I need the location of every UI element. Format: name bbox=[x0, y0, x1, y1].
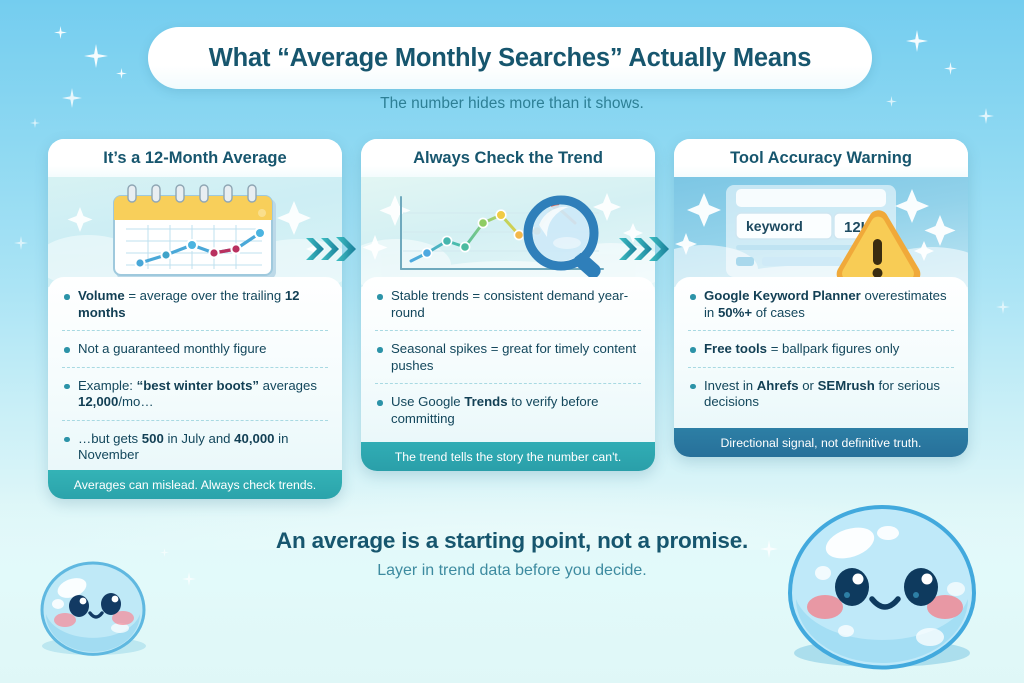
page-subtitle: The number hides more than it shows. bbox=[0, 95, 1024, 113]
card-title: Always Check the Trend bbox=[413, 149, 603, 168]
bullet-item: Stable trends = consistent demand year-r… bbox=[375, 288, 641, 321]
triple-chevron-right-icon bbox=[619, 237, 669, 261]
blob-mascot-small bbox=[28, 548, 158, 658]
sparkle-icon bbox=[30, 118, 40, 128]
card-body: Volume = average over the trailing 12 mo… bbox=[48, 277, 342, 470]
sparkle-icon bbox=[944, 62, 957, 75]
card-check-the-trend[interactable]: Always Check the Trend bbox=[361, 139, 655, 471]
triple-chevron-right-icon bbox=[306, 237, 356, 261]
calendar-with-line-chart-icon bbox=[48, 177, 342, 287]
sparkle-icon bbox=[54, 26, 67, 39]
sparkle-icon bbox=[996, 300, 1010, 314]
card-header: Always Check the Trend bbox=[361, 139, 655, 177]
card-footer-banner: Averages can mislead. Always check trend… bbox=[48, 470, 342, 499]
card-footer-banner: Directional signal, not definitive truth… bbox=[674, 428, 968, 457]
bullet-list: Stable trends = consistent demand year-r… bbox=[375, 288, 641, 427]
card-header: It’s a 12-Month Average bbox=[48, 139, 342, 177]
infographic-canvas: What “Average Monthly Searches” Actually… bbox=[0, 0, 1024, 683]
keyword-field-label: keyword bbox=[746, 218, 803, 234]
bullet-item: Seasonal spikes = great for timely conte… bbox=[375, 330, 641, 374]
sparkle-icon bbox=[14, 236, 28, 250]
title-banner: What “Average Monthly Searches” Actually… bbox=[148, 27, 872, 89]
bullet-item: Example: “best winter boots” averages 12… bbox=[62, 367, 328, 411]
card-12-month-average[interactable]: It’s a 12-Month Average bbox=[48, 139, 342, 499]
card-title: Tool Accuracy Warning bbox=[730, 149, 912, 168]
card-title: It’s a 12-Month Average bbox=[103, 149, 286, 168]
line-chart-with-magnifier-icon bbox=[361, 177, 655, 287]
bullet-list: Volume = average over the trailing 12 mo… bbox=[62, 288, 328, 464]
sparkle-icon bbox=[906, 30, 928, 52]
bullet-item: Volume = average over the trailing 12 mo… bbox=[62, 288, 328, 321]
bullet-item: …but gets 500 in July and 40,000 in Nove… bbox=[62, 420, 328, 464]
bullet-item: Not a guaranteed monthly figure bbox=[62, 330, 328, 358]
bullet-item: Free tools = ballpark figures only bbox=[688, 330, 954, 358]
sparkle-icon bbox=[84, 44, 108, 68]
bullet-list: Google Keyword Planner overestimates in … bbox=[688, 288, 954, 411]
chevron-connector-1 bbox=[304, 232, 358, 266]
bullet-item: Invest in Ahrefs or SEMrush for serious … bbox=[688, 367, 954, 411]
bullet-item: Use Google Trends to verify before commi… bbox=[375, 383, 641, 427]
card-tool-accuracy-warning[interactable]: Tool Accuracy Warning keyw bbox=[674, 139, 968, 457]
card-body: Stable trends = consistent demand year-r… bbox=[361, 277, 655, 442]
page-title: What “Average Monthly Searches” Actually… bbox=[209, 44, 812, 73]
card-header: Tool Accuracy Warning bbox=[674, 139, 968, 177]
blob-mascot-large bbox=[770, 495, 995, 670]
keyword-tool-panel-with-warning-icon: keyword 12K bbox=[674, 177, 968, 287]
sparkle-icon bbox=[116, 68, 127, 79]
card-body: Google Keyword Planner overestimates in … bbox=[674, 277, 968, 428]
chevron-connector-2 bbox=[617, 232, 671, 266]
card-footer-banner: The trend tells the story the number can… bbox=[361, 442, 655, 471]
bullet-item: Google Keyword Planner overestimates in … bbox=[688, 288, 954, 321]
